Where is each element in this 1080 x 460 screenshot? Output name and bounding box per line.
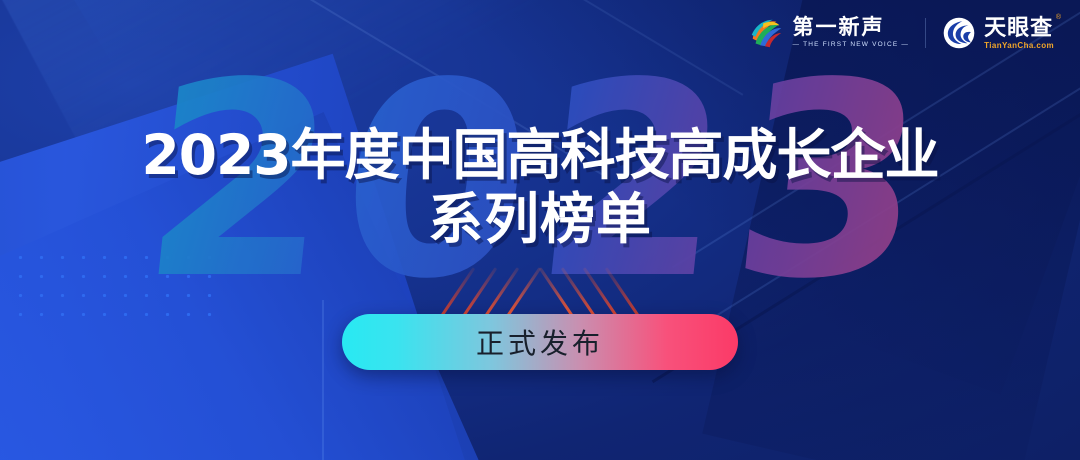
first-voice-tagline: — THE FIRST NEW VOICE — xyxy=(793,42,910,49)
tianyancha-domain: TianYanCha.com xyxy=(984,42,1054,50)
first-voice-wordmark: 第一新声 — THE FIRST NEW VOICE — xyxy=(793,17,910,49)
release-cta-button[interactable]: 正式发布 xyxy=(342,314,738,370)
banner-title: 2023年度中国高科技高成长企业 系列榜单 xyxy=(0,128,1080,247)
eye-lens-logo-icon xyxy=(942,16,976,50)
title-line-2: 系列榜单 xyxy=(0,192,1080,247)
title-line-1: 2023年度中国高科技高成长企业 xyxy=(0,128,1080,183)
logo-separator xyxy=(925,18,926,48)
tianyancha-wordmark: 天眼查 TianYanCha.com ® xyxy=(984,17,1054,50)
swirl-logo-icon xyxy=(747,14,785,52)
first-voice-name-cn: 第一新声 xyxy=(793,17,910,38)
logo-bar: 第一新声 — THE FIRST NEW VOICE — 天眼查 TianYan… xyxy=(747,14,1054,52)
registered-trademark-icon: ® xyxy=(1056,14,1061,21)
logo-tianyancha[interactable]: 天眼查 TianYanCha.com ® xyxy=(942,16,1054,50)
tianyancha-name-cn: 天眼查 xyxy=(984,17,1054,39)
promo-banner: 2023 第一新声 — THE FIRST NEW VOICE — xyxy=(0,0,1080,460)
release-cta-label: 正式发布 xyxy=(476,322,604,362)
logo-first-voice[interactable]: 第一新声 — THE FIRST NEW VOICE — xyxy=(747,14,910,52)
